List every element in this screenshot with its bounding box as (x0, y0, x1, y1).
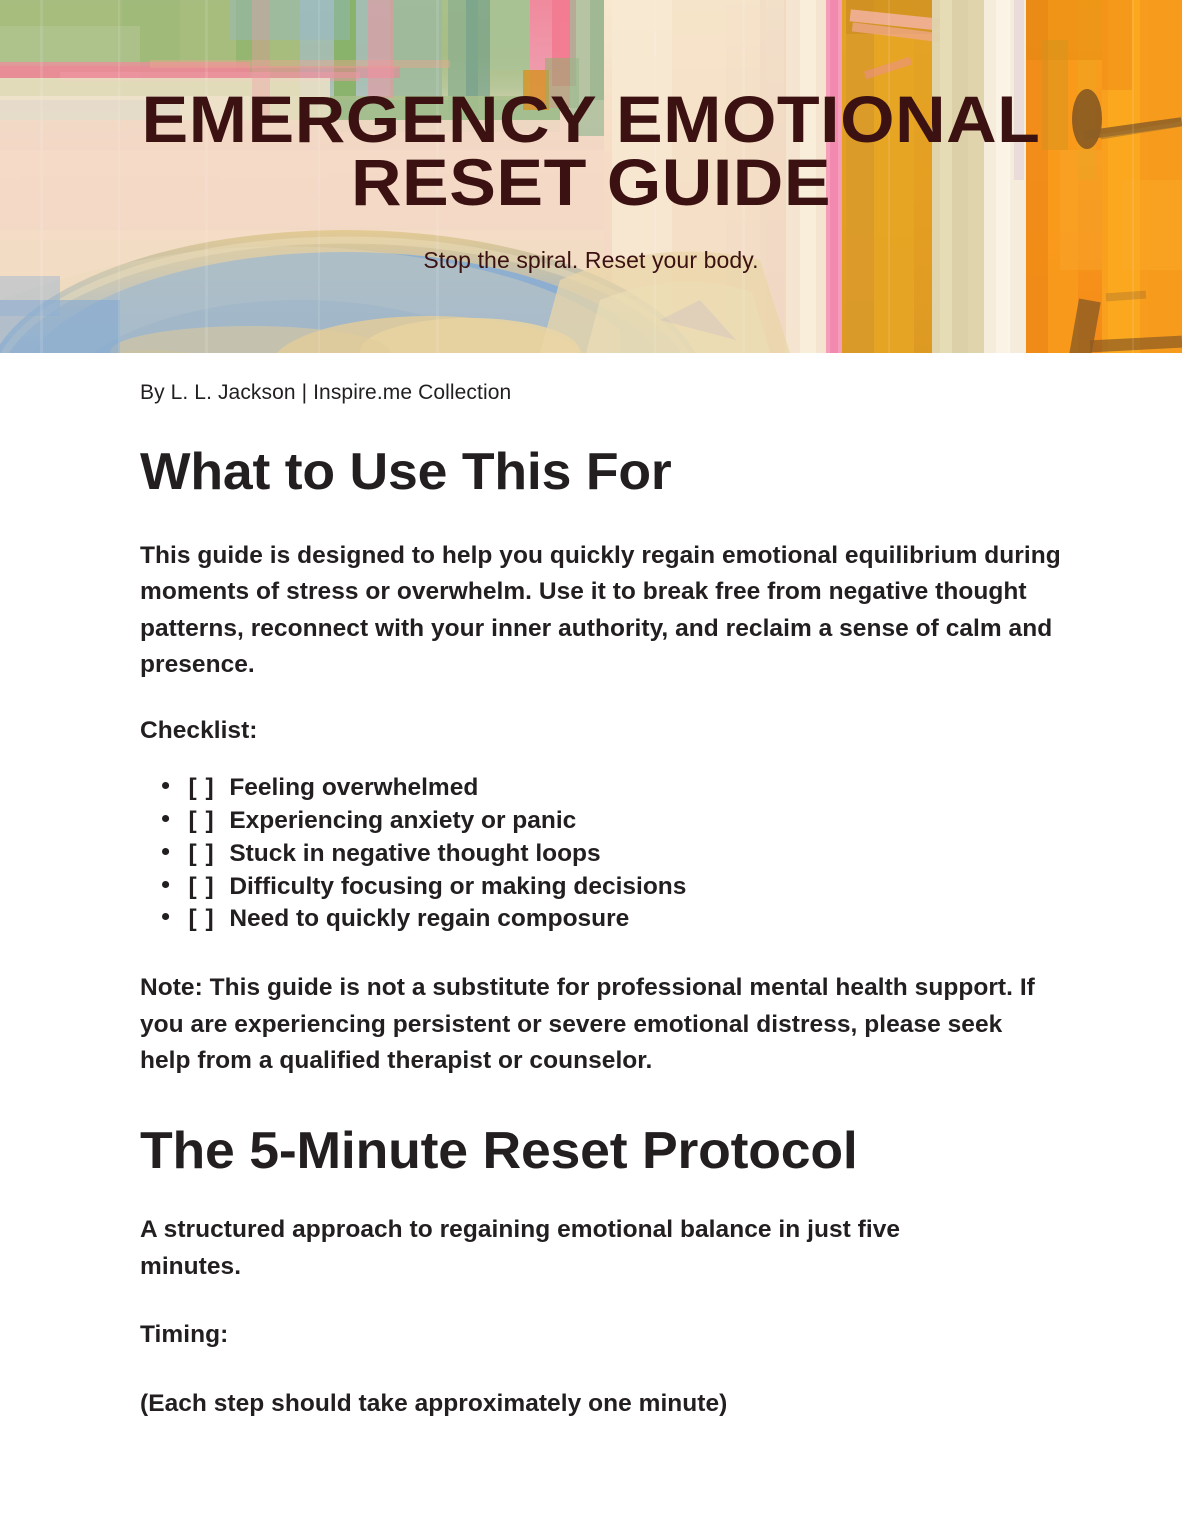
section-heading-five-minute-reset-protocol: The 5-Minute Reset Protocol (140, 1080, 1072, 1179)
list-item-label: Feeling overwhelmed (229, 772, 478, 805)
document-page: EMERGENCY EMOTIONAL RESET GUIDE Stop the… (0, 0, 1182, 1529)
checkbox-icon[interactable]: [ ] (189, 871, 230, 904)
document-content: By L. L. Jackson | Inspire.me Collection… (140, 353, 1045, 1422)
list-item[interactable]: [ ] Feeling overwhelmed (162, 772, 1063, 805)
checkbox-icon[interactable]: [ ] (189, 838, 230, 871)
timing-note: (Each step should take approximately one… (140, 1354, 1063, 1422)
disclaimer-note: Note: This guide is not a substitute for… (140, 936, 1038, 1079)
checklist-label: Checklist: (140, 683, 1063, 749)
section-heading-what-to-use-this-for: What to Use This For (140, 405, 1072, 500)
list-item-label: Difficulty focusing or making decisions (229, 871, 686, 904)
checkbox-icon[interactable]: [ ] (189, 903, 230, 936)
list-item[interactable]: [ ] Experiencing anxiety or panic (162, 805, 1063, 838)
checkbox-icon[interactable]: [ ] (189, 772, 230, 805)
bullet-icon (162, 815, 169, 822)
protocol-description: A structured approach to regaining emoti… (140, 1178, 1002, 1285)
intro-paragraph: This guide is designed to help you quick… (140, 500, 1063, 684)
list-item[interactable]: [ ] Difficulty focusing or making decisi… (162, 871, 1063, 904)
bullet-icon (162, 881, 169, 888)
hero-text-block: EMERGENCY EMOTIONAL RESET GUIDE Stop the… (0, 0, 1182, 353)
list-item-label: Need to quickly regain composure (229, 903, 629, 936)
hero-header: EMERGENCY EMOTIONAL RESET GUIDE Stop the… (0, 0, 1182, 353)
list-item[interactable]: [ ] Stuck in negative thought loops (162, 838, 1063, 871)
page-subtitle: Stop the spiral. Reset your body. (423, 215, 758, 274)
bullet-icon (162, 848, 169, 855)
checkbox-icon[interactable]: [ ] (189, 805, 230, 838)
list-item[interactable]: [ ] Need to quickly regain composure (162, 903, 1063, 936)
bullet-icon (162, 782, 169, 789)
list-item-label: Experiencing anxiety or panic (229, 805, 576, 838)
bullet-icon (162, 913, 169, 920)
checklist: [ ] Feeling overwhelmed [ ] Experiencing… (140, 750, 1045, 936)
timing-label: Timing: (140, 1285, 1063, 1353)
byline: By L. L. Jackson | Inspire.me Collection (140, 353, 1045, 405)
list-item-label: Stuck in negative thought loops (229, 838, 600, 871)
page-title: EMERGENCY EMOTIONAL RESET GUIDE (142, 88, 1041, 215)
